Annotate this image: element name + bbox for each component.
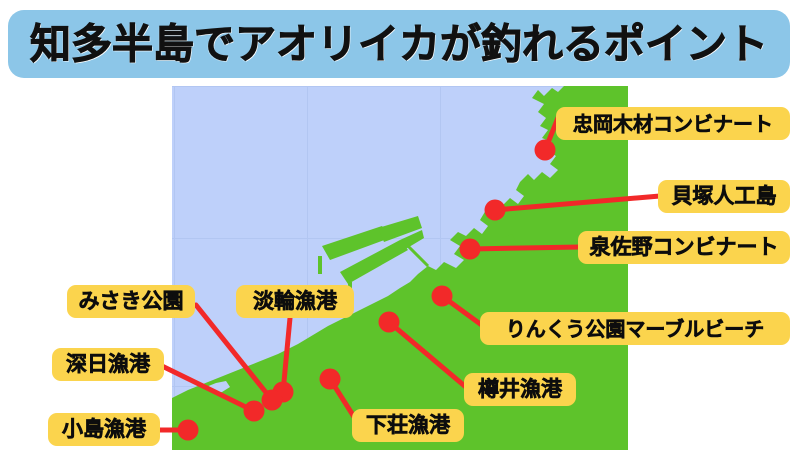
- map-label-text-fuke: 深日漁港: [66, 354, 150, 375]
- map-label-text-rinku: りんくう公園マーブルビーチ: [506, 319, 764, 339]
- map-label-kojima[interactable]: 小島漁港: [48, 413, 160, 446]
- map-label-shimosho[interactable]: 下荘漁港: [352, 409, 464, 442]
- map-label-text-kaizuka: 貝塚人工島: [672, 186, 777, 207]
- map-label-text-misaki: みさき公園: [79, 291, 184, 312]
- map-label-text-tarui: 樽井漁港: [478, 379, 562, 400]
- map-label-text-tannowa: 淡輪漁港: [253, 291, 337, 312]
- map-label-tadaoka[interactable]: 忠岡木材コンビナート: [556, 107, 790, 140]
- map-label-text-izumisano: 泉佐野コンビナート: [590, 237, 779, 258]
- map-label-tarui[interactable]: 樽井漁港: [464, 373, 576, 406]
- map-label-text-tadaoka: 忠岡木材コンビナート: [573, 114, 773, 134]
- map-label-kaizuka[interactable]: 貝塚人工島: [658, 180, 790, 213]
- page-title: 知多半島でアオリイカが釣れるポイント: [30, 24, 768, 65]
- page-title-banner: 知多半島でアオリイカが釣れるポイント: [8, 10, 790, 78]
- map-label-misaki[interactable]: みさき公園: [67, 285, 195, 318]
- map-label-fuke[interactable]: 深日漁港: [52, 348, 164, 381]
- screenshot-root: 知多半島でアオリイカが釣れるポイント: [0, 0, 800, 450]
- map-label-tannowa[interactable]: 淡輪漁港: [236, 285, 354, 318]
- map-label-text-shimosho: 下荘漁港: [366, 415, 450, 436]
- map-label-izumisano[interactable]: 泉佐野コンビナート: [578, 231, 790, 264]
- map-label-rinku[interactable]: りんくう公園マーブルビーチ: [480, 312, 790, 345]
- map-label-text-kojima: 小島漁港: [62, 419, 146, 440]
